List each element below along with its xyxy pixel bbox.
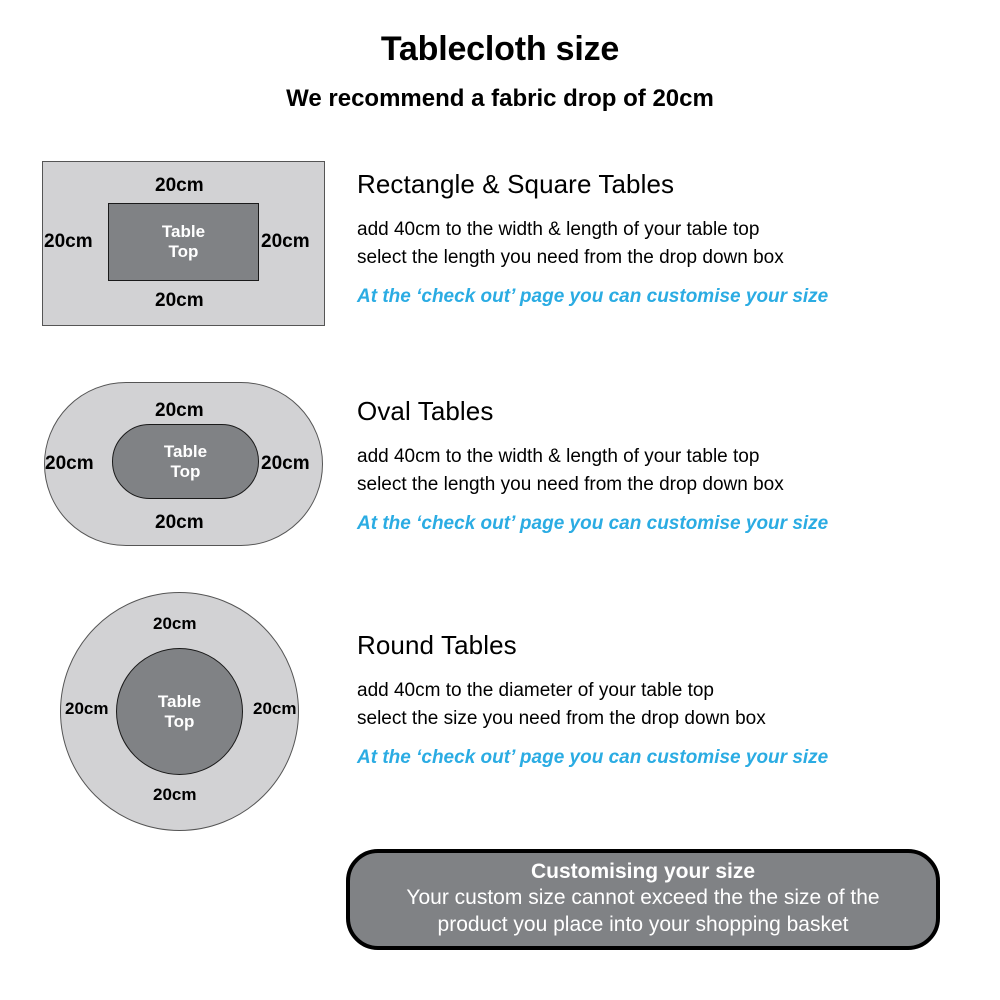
- rectangle-instructions: add 40cm to the width & length of your t…: [357, 216, 828, 272]
- oval-heading: Oval Tables: [357, 396, 828, 427]
- round-dim-top: 20cm: [153, 614, 196, 634]
- rectangle-checkout-note: At the ‘check out’ page you can customis…: [357, 286, 828, 308]
- round-checkout-note: At the ‘check out’ page you can customis…: [357, 747, 828, 769]
- table-top-label-line2: Top: [165, 712, 195, 732]
- round-instruction-line-1: add 40cm to the diameter of your table t…: [357, 677, 828, 705]
- round-instructions: add 40cm to the diameter of your table t…: [357, 677, 828, 733]
- oval-section-text: Oval Tables add 40cm to the width & leng…: [357, 396, 828, 535]
- rectangle-section-text: Rectangle & Square Tables add 40cm to th…: [357, 169, 828, 308]
- round-dim-left: 20cm: [65, 699, 108, 719]
- rectangle-instruction-line-1: add 40cm to the width & length of your t…: [357, 216, 828, 244]
- callout-title: Customising your size: [531, 859, 755, 884]
- round-table-top: Table Top: [116, 648, 243, 775]
- round-diagram: Table Top 20cm 20cm 20cm 20cm: [0, 0, 340, 860]
- callout-body-line-1: Your custom size cannot exceed the the s…: [406, 884, 879, 911]
- oval-instruction-line-2: select the length you need from the drop…: [357, 471, 828, 499]
- table-top-label-line1: Table: [158, 692, 201, 712]
- round-dim-right: 20cm: [253, 699, 296, 719]
- oval-instruction-line-1: add 40cm to the width & length of your t…: [357, 443, 828, 471]
- oval-instructions: add 40cm to the width & length of your t…: [357, 443, 828, 499]
- round-instruction-line-2: select the size you need from the drop d…: [357, 705, 828, 733]
- rectangle-heading: Rectangle & Square Tables: [357, 169, 828, 200]
- rectangle-instruction-line-2: select the length you need from the drop…: [357, 244, 828, 272]
- callout-body-line-2: product you place into your shopping bas…: [438, 911, 849, 938]
- customising-size-callout: Customising your size Your custom size c…: [346, 849, 940, 950]
- round-heading: Round Tables: [357, 630, 828, 661]
- round-section-text: Round Tables add 40cm to the diameter of…: [357, 630, 828, 769]
- oval-checkout-note: At the ‘check out’ page you can customis…: [357, 513, 828, 535]
- round-dim-bottom: 20cm: [153, 785, 196, 805]
